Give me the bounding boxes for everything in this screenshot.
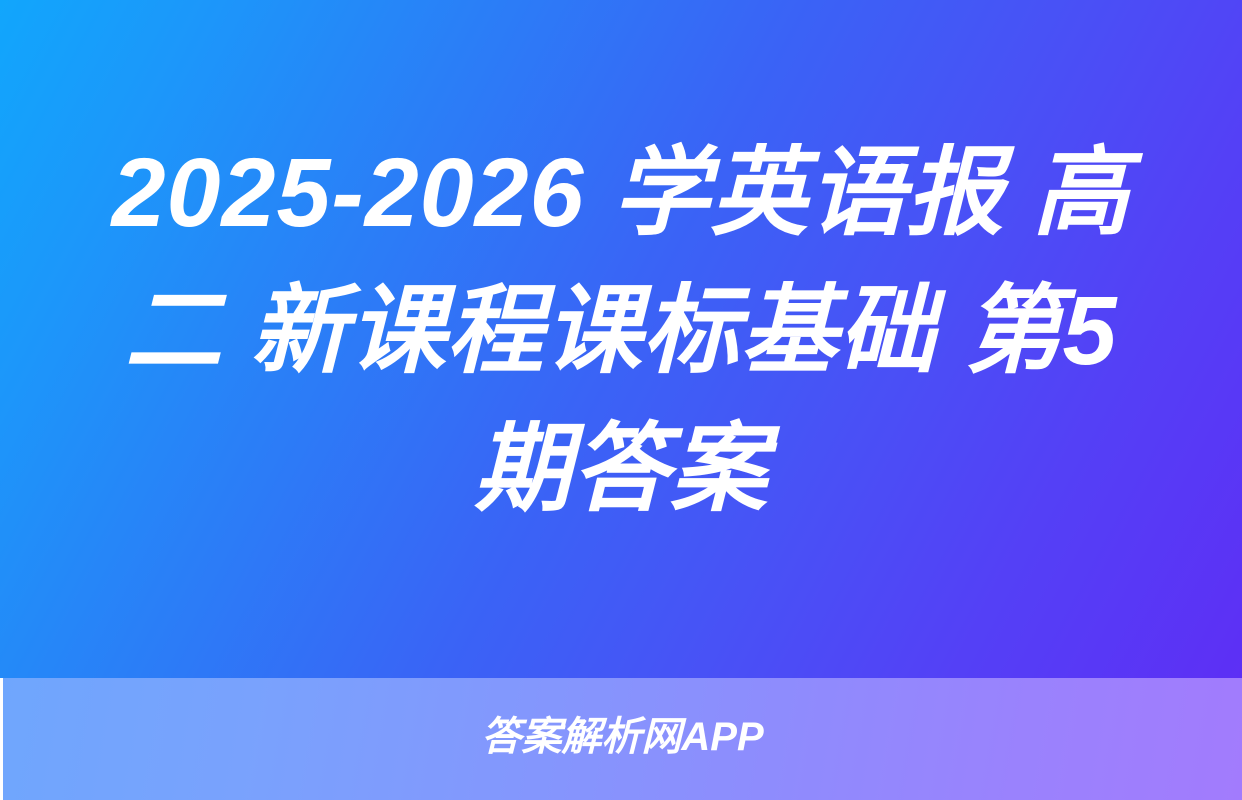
watermark-text: 答案解析网APP — [481, 717, 763, 757]
watermark-bar: 答案解析网APP — [0, 678, 1242, 800]
page-title: 2025-2026 学英语报 高二 新课程课标基础 第5期答案 — [77, 124, 1165, 537]
poster-image: 2025-2026 学英语报 高二 新课程课标基础 第5期答案 答案解析网APP — [0, 0, 1242, 800]
hero-content: 2025-2026 学英语报 高二 新课程课标基础 第5期答案 — [67, 124, 1175, 537]
hero-banner: 2025-2026 学英语报 高二 新课程课标基础 第5期答案 — [0, 0, 1242, 678]
